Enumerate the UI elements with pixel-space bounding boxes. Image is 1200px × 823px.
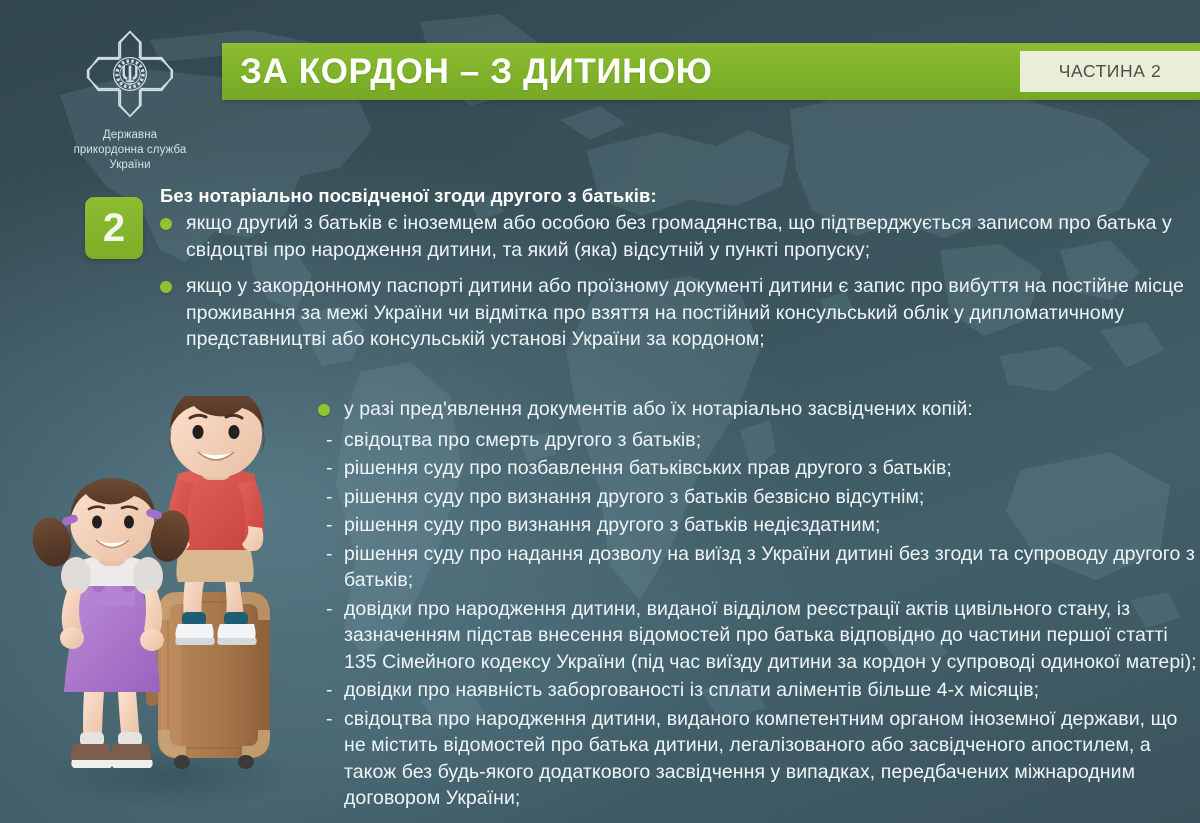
sub-list-item-text: рішення суду про надання дозволу на виїз… <box>344 543 1195 592</box>
list-item: якщо у закордонному паспорті дитини або … <box>160 273 1195 353</box>
dash-marker: - <box>326 596 333 623</box>
logo-caption: Державна прикордонна служба України <box>40 128 220 174</box>
sub-list-item-text: довідки про наявність заборгованості із … <box>344 679 1039 701</box>
section-heading: Без нотаріально посвідченої згоди другог… <box>160 185 1160 207</box>
part-badge-label: ЧАСТИНА 2 <box>1059 61 1162 82</box>
dash-marker: - <box>326 484 333 511</box>
logo-caption-line-1: Державна <box>40 128 220 143</box>
sub-list-item-text: рішення суду про визнання другого з бать… <box>344 486 924 508</box>
sub-list-item-text: свідоцтва про народження дитини, виданог… <box>344 708 1177 810</box>
infographic-page: Державна прикордонна служба України ЗА К… <box>0 0 1200 823</box>
dash-marker: - <box>326 541 333 568</box>
sub-list-item: - рішення суду про визнання другого з ба… <box>326 512 1198 539</box>
sub-list-item: - свідоцтва про народження дитини, видан… <box>326 706 1198 812</box>
sub-list-item: - довідки про наявність заборгованості і… <box>326 677 1198 704</box>
suitcase <box>146 592 270 769</box>
section-number: 2 <box>103 208 125 248</box>
organization-logo: Державна прикордонна служба України <box>40 26 220 174</box>
bullet-dot-icon <box>160 218 172 230</box>
sub-list-item-text: довідки про народження дитини, виданої в… <box>344 598 1197 673</box>
sub-list-item: - рішення суду про визнання другого з ба… <box>326 484 1198 511</box>
list-item-text: якщо у закордонному паспорті дитини або … <box>186 275 1184 350</box>
sub-list-item-text: свідоцтва про смерть другого з батьків; <box>344 429 701 451</box>
sub-list-item: - рішення суду про надання дозволу на ви… <box>326 541 1198 594</box>
part-badge: ЧАСТИНА 2 <box>1020 51 1200 92</box>
sub-list-item: - рішення суду про позбавлення батьківсь… <box>326 455 1198 482</box>
document-list-group: у разі пред'явлення документів або їх но… <box>318 396 1198 814</box>
section-number-badge: 2 <box>85 197 143 259</box>
logo-caption-line-2: прикордонна служба <box>40 143 220 158</box>
sub-list-item: - довідки про народження дитини, виданої… <box>326 596 1198 676</box>
sub-list-item-text: рішення суду про визнання другого з бать… <box>344 514 880 536</box>
border-guard-cross-icon <box>82 26 178 122</box>
list-item: якщо другий з батьків є іноземцем або ос… <box>160 210 1195 263</box>
children-with-suitcase-illustration <box>18 396 318 816</box>
logo-caption-line-3: України <box>40 158 220 173</box>
list-item-text: у разі пред'явлення документів або їх но… <box>344 398 973 420</box>
dash-marker: - <box>326 427 333 454</box>
dash-marker: - <box>326 706 333 733</box>
title-bar: ЗА КОРДОН – З ДИТИНОЮ ЧАСТИНА 2 <box>222 43 1200 100</box>
bullet-list: якщо другий з батьків є іноземцем або ос… <box>160 210 1195 363</box>
dash-marker: - <box>326 455 333 482</box>
sub-list-item-text: рішення суду про позбавлення батьківськи… <box>344 457 952 479</box>
bullet-dot-icon <box>160 281 172 293</box>
list-item-text: якщо другий з батьків є іноземцем або ос… <box>186 212 1172 261</box>
dash-marker: - <box>326 677 333 704</box>
list-item: у разі пред'явлення документів або їх но… <box>318 396 1198 423</box>
page-title: ЗА КОРДОН – З ДИТИНОЮ <box>240 52 712 92</box>
sub-list-item: - свідоцтва про смерть другого з батьків… <box>326 427 1198 454</box>
dash-marker: - <box>326 512 333 539</box>
bullet-dot-icon <box>318 404 330 416</box>
